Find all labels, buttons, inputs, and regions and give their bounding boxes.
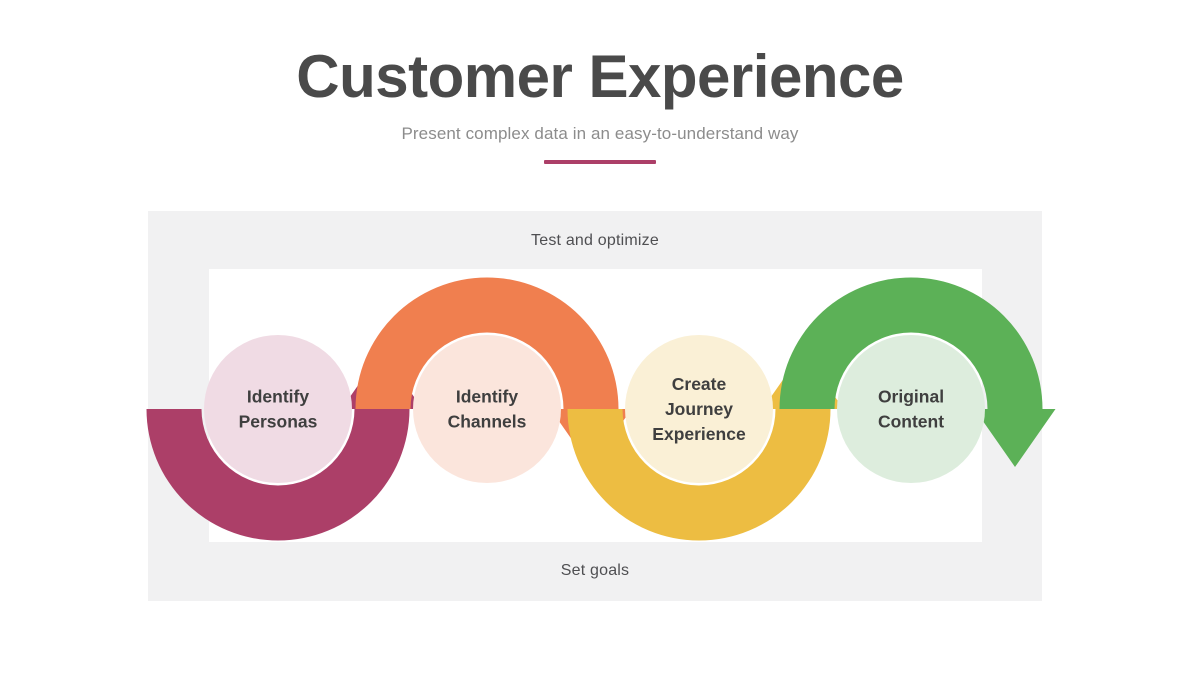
panel-top-label: Test and optimize: [148, 232, 1042, 250]
slide-header: Customer Experience Present complex data…: [0, 44, 1200, 164]
page-subtitle: Present complex data in an easy-to-under…: [0, 124, 1200, 144]
panel-bottom-label: Set goals: [148, 562, 1042, 580]
diagram-inner-panel: [209, 269, 982, 542]
title-accent-bar: [544, 160, 656, 164]
page-title: Customer Experience: [0, 44, 1200, 110]
slide-canvas: Customer Experience Present complex data…: [0, 0, 1200, 675]
